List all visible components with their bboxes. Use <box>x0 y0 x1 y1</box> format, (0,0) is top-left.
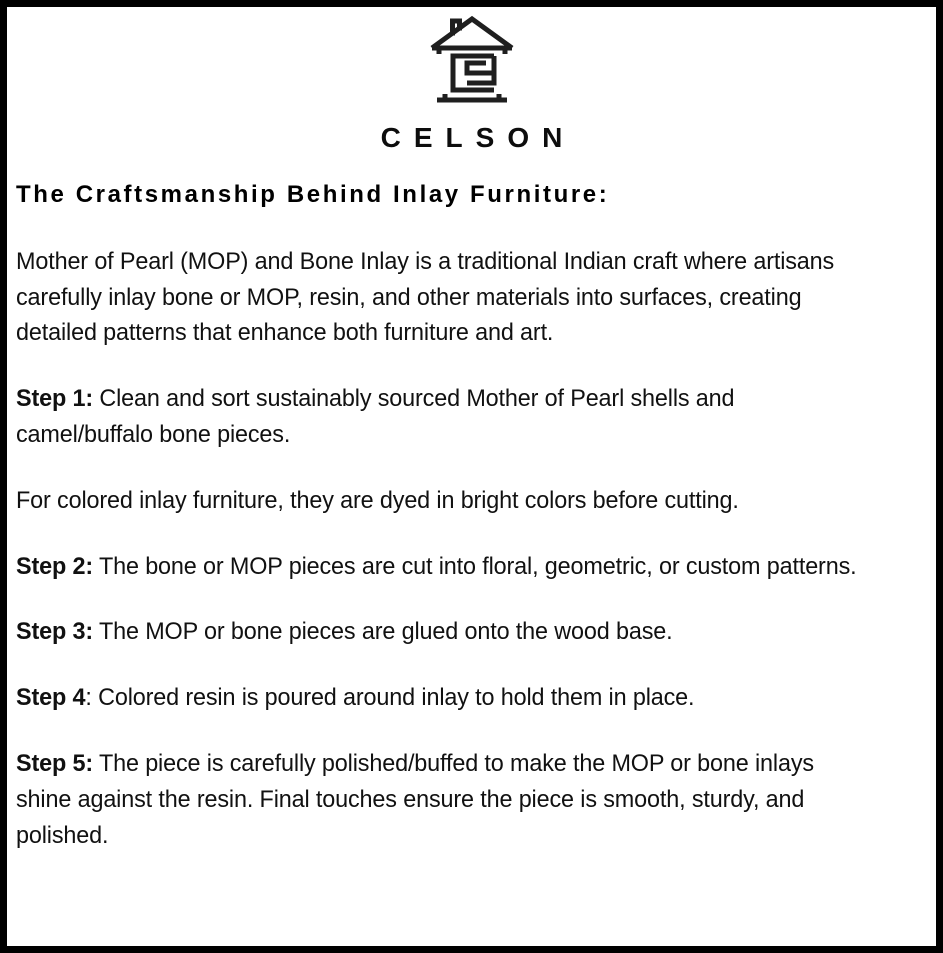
paragraph-text: : Colored resin is poured around inlay t… <box>85 684 694 711</box>
poster-card: CELSON The Craftsmanship Behind Inlay Fu… <box>0 0 943 953</box>
brand-name: CELSON <box>368 124 576 152</box>
house-logo-icon <box>426 12 518 110</box>
poster-body: The Craftsmanship Behind Inlay Furniture… <box>7 181 936 853</box>
paragraph-step-5: Step 5: The piece is carefully polished/… <box>16 746 874 853</box>
paragraph-intro: Mother of Pearl (MOP) and Bone Inlay is … <box>16 244 874 351</box>
page-title: The Craftsmanship Behind Inlay Furniture… <box>16 181 914 210</box>
paragraph-text: For colored inlay furniture, they are dy… <box>16 487 739 514</box>
paragraph-lead: Step 4 <box>16 684 85 711</box>
paragraph-text: Mother of Pearl (MOP) and Bone Inlay is … <box>16 248 834 347</box>
paragraph-text: The piece is carefully polished/buffed t… <box>16 750 814 849</box>
paragraph-text: Clean and sort sustainably sourced Mothe… <box>16 385 734 448</box>
paragraph-step-2: Step 2: The bone or MOP pieces are cut i… <box>16 549 874 585</box>
paragraph-step-1: Step 1: Clean and sort sustainably sourc… <box>16 381 874 453</box>
paragraph-step-3: Step 3: The MOP or bone pieces are glued… <box>16 614 874 650</box>
paragraph-lead: Step 3: <box>16 618 93 645</box>
paragraph-text: The MOP or bone pieces are glued onto th… <box>93 618 672 645</box>
paragraph-lead: Step 1: <box>16 385 93 412</box>
paragraph-step-4: Step 4: Colored resin is poured around i… <box>16 680 874 716</box>
paragraph-lead: Step 5: <box>16 750 93 777</box>
brand-header: CELSON <box>7 7 936 152</box>
paragraph-dye-note: For colored inlay furniture, they are dy… <box>16 483 874 519</box>
paragraph-text: The bone or MOP pieces are cut into flor… <box>93 553 856 580</box>
paragraph-lead: Step 2: <box>16 553 93 580</box>
